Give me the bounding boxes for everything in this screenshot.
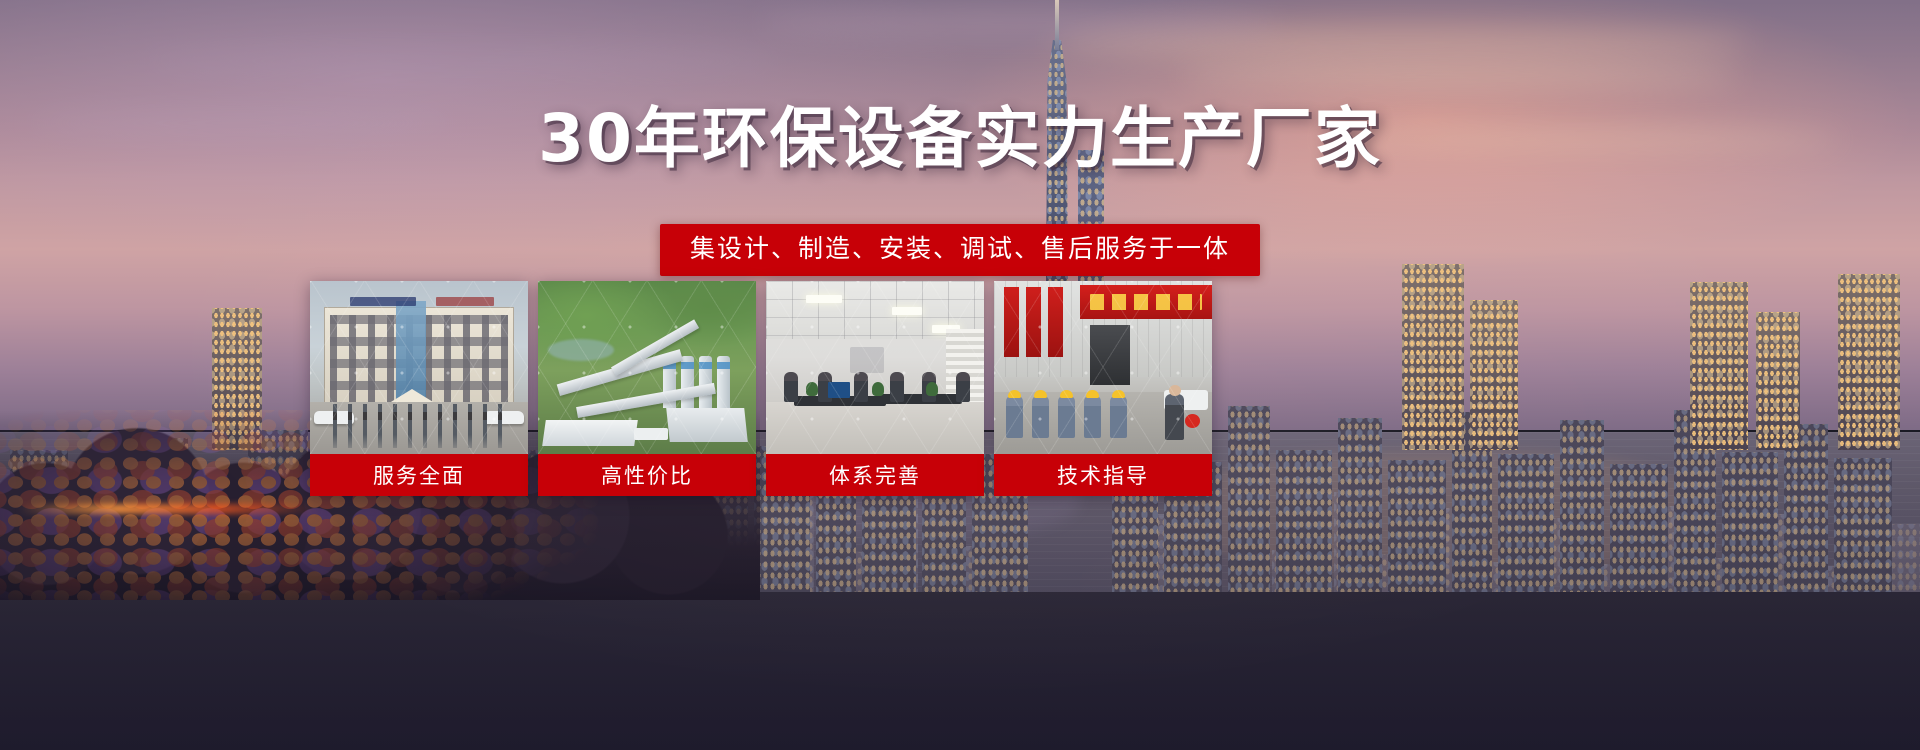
- feature-card-label: 服务全面: [310, 454, 528, 496]
- card-photo-headquarters: [310, 281, 528, 454]
- feature-card-label: 高性价比: [538, 454, 756, 496]
- banner-subtitle-bar: 集设计、制造、安装、调试、售后服务于一体: [660, 224, 1260, 276]
- feature-card[interactable]: 高性价比: [538, 281, 756, 496]
- photo-phone-number: [436, 297, 494, 306]
- feature-card-label: 技术指导: [994, 454, 1212, 496]
- feature-card[interactable]: 服务全面: [310, 281, 528, 496]
- feature-card[interactable]: 体系完善: [766, 281, 984, 496]
- hero-banner: 30年环保设备实力生产厂家 集设计、制造、安装、调试、售后服务于一体: [0, 0, 1920, 750]
- banner-headline: 30年环保设备实力生产厂家: [0, 102, 1920, 176]
- feature-card-list: 服务全面 高性价比: [310, 281, 1572, 496]
- photo-company-logo: [350, 297, 416, 306]
- card-photo-office-team: [766, 281, 984, 454]
- workshop-red-banner: [1080, 285, 1212, 319]
- feature-card-label: 体系完善: [766, 454, 984, 496]
- card-photo-plant-aerial: [538, 281, 756, 454]
- banner-subtitle-text: 集设计、制造、安装、调试、售后服务于一体: [690, 233, 1230, 265]
- feature-card[interactable]: 技术指导: [994, 281, 1212, 496]
- banner-content: 30年环保设备实力生产厂家 集设计、制造、安装、调试、售后服务于一体: [0, 0, 1920, 750]
- card-photo-workshop-training: [994, 281, 1212, 454]
